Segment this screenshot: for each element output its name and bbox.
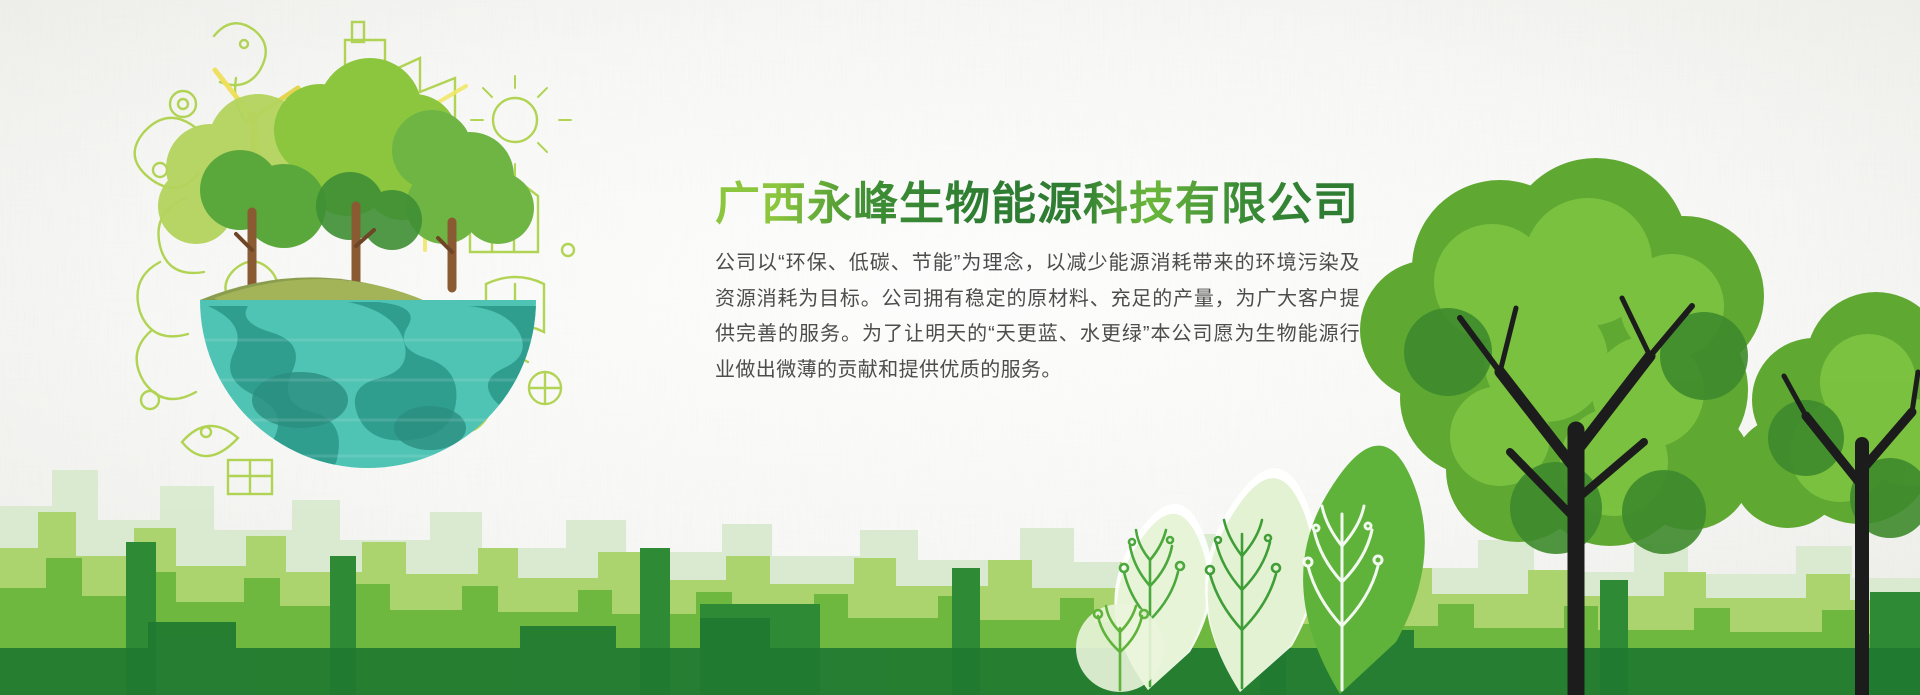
outline-doodles <box>135 22 574 494</box>
tree-cluster <box>158 58 534 292</box>
leaf-3-dark <box>1303 446 1425 694</box>
circle-tree-motif <box>1076 604 1164 692</box>
skyline-mid <box>0 512 1920 695</box>
tree-right-big <box>1360 158 1764 695</box>
wind-turbine-group <box>215 66 466 270</box>
half-earth-globe <box>200 300 554 479</box>
company-description: 公司以“环保、低碳、节能”为理念，以减少能源消耗带来的环境污染及资源消耗为目标。… <box>715 246 1360 388</box>
tree-right-small <box>1732 292 1920 695</box>
eco-factory-outline <box>345 40 455 120</box>
skyline-dark-accents <box>126 542 1920 695</box>
page-title: 广西永峰生物能源科技有限公司 <box>715 178 1415 230</box>
leaf-2 <box>1205 468 1318 692</box>
eco-banner: 广西永峰生物能源科技有限公司 公司以“环保、低碳、节能”为理念，以减少能源消耗带… <box>0 0 1920 695</box>
skyline-foreground-band <box>0 618 1920 695</box>
grass-hill <box>200 277 436 336</box>
skyline-far <box>0 470 1920 695</box>
leaf-1 <box>1114 504 1212 690</box>
leaf-tree-veins <box>1120 530 1184 686</box>
text-block: 广西永峰生物能源科技有限公司 公司以“环保、低碳、节能”为理念，以减少能源消耗带… <box>715 178 1415 388</box>
skyline-near <box>0 558 1920 695</box>
